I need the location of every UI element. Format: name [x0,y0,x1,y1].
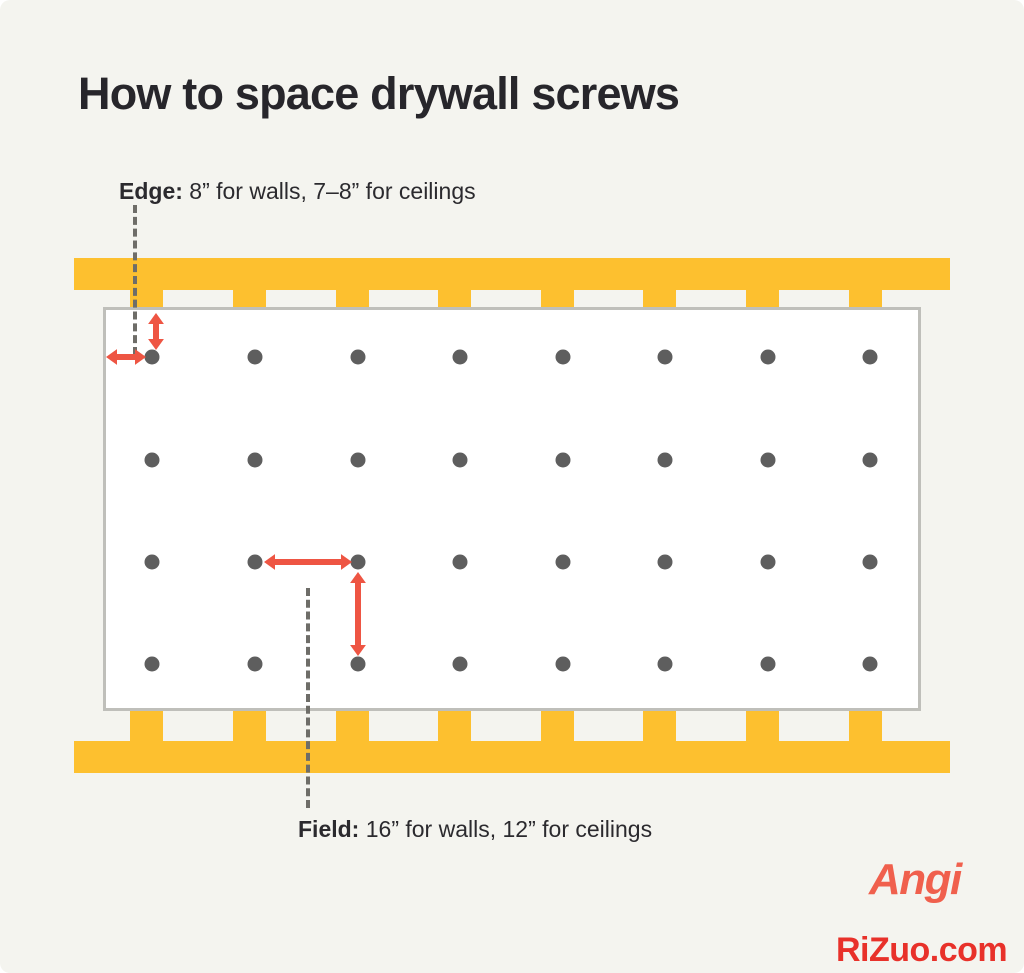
rizuo-watermark: RiZuo.com [836,931,1007,970]
screw-r3-c8 [863,555,878,570]
stud-bottom-3 [336,709,369,741]
screw-r3-c6 [658,555,673,570]
stud-bottom-7 [746,709,779,741]
screw-r2-c4 [453,453,468,468]
stud-bottom-8 [849,709,882,741]
screw-r4-c5 [556,657,571,672]
screw-r3-c3 [351,555,366,570]
screw-r3-c1 [145,555,160,570]
screw-r4-c7 [761,657,776,672]
screw-r3-c7 [761,555,776,570]
screw-r4-c6 [658,657,673,672]
edge-callout-label: Edge: 8” for walls, 7–8” for ceilings [119,178,476,205]
screw-r4-c2 [248,657,263,672]
screw-r1-c8 [863,350,878,365]
screw-r3-c2 [248,555,263,570]
screw-r2-c3 [351,453,366,468]
screw-r1-c2 [248,350,263,365]
edge-leader-dashed-line [133,205,137,355]
drywall-panel [103,307,921,711]
field-callout-lead: Field: [298,816,359,842]
screw-r4-c1 [145,657,160,672]
field-callout-text: 16” for walls, 12” for ceilings [359,816,652,842]
screw-r1-c5 [556,350,571,365]
stud-bottom-4 [438,709,471,741]
field-callout-label: Field: 16” for walls, 12” for ceilings [298,816,652,843]
page-title: How to space drywall screws [78,68,679,120]
screw-r2-c1 [145,453,160,468]
stud-bottom-6 [643,709,676,741]
angi-logo: Angi [869,855,961,905]
edge-callout-lead: Edge: [119,178,183,204]
screw-r4-c3 [351,657,366,672]
screw-r1-c1 [145,350,160,365]
screw-r1-c7 [761,350,776,365]
stud-bottom-2 [233,709,266,741]
bottom-plate [74,741,950,773]
screw-r2-c2 [248,453,263,468]
stud-bottom-5 [541,709,574,741]
field-leader-dashed-line [306,588,310,808]
screw-r2-c5 [556,453,571,468]
screw-r1-c3 [351,350,366,365]
screw-r4-c4 [453,657,468,672]
screw-r2-c8 [863,453,878,468]
screw-r2-c6 [658,453,673,468]
screw-r1-c6 [658,350,673,365]
screw-r3-c4 [453,555,468,570]
infographic-canvas: How to space drywall screws Edge: 8” for… [0,0,1024,973]
screw-r1-c4 [453,350,468,365]
edge-callout-text: 8” for walls, 7–8” for ceilings [183,178,476,204]
screw-r4-c8 [863,657,878,672]
stud-bottom-1 [130,709,163,741]
screw-r2-c7 [761,453,776,468]
top-plate [74,258,950,290]
screw-r3-c5 [556,555,571,570]
